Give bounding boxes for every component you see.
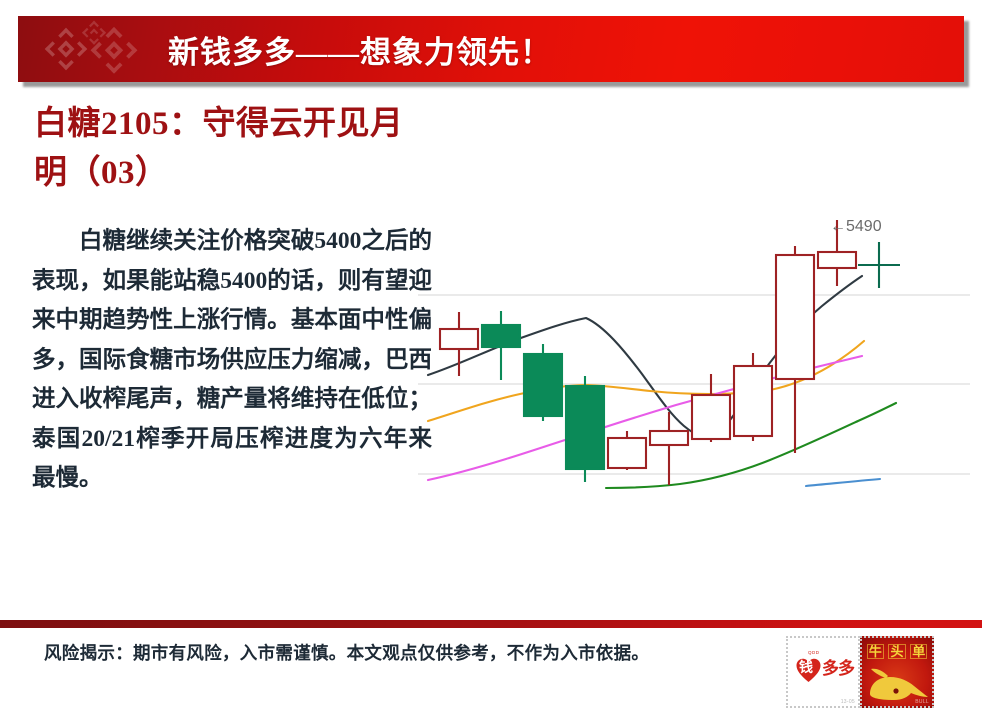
ntd-char-dan: 单 (910, 644, 927, 659)
qdd-micro-text: QDD (808, 650, 820, 655)
qdd-char-qian: 钱 (799, 662, 813, 676)
page-title: 白糖2105：守得云开见月明（03） (34, 100, 434, 198)
candle-3 (524, 344, 562, 421)
candlestick-series (440, 220, 900, 485)
niutoudan-stamp: 牛 头 单 BULL (860, 636, 934, 708)
candle-9 (776, 246, 814, 453)
candle-8 (734, 353, 772, 441)
candle-11 (858, 242, 900, 288)
ma-lines (428, 276, 896, 488)
header-banner: 新钱多多——想象力领先！ (18, 16, 964, 82)
candle-2 (482, 311, 520, 380)
candle-1 (440, 312, 478, 376)
banner-title: 新钱多多——想象力领先！ (168, 16, 552, 82)
candlestick-chart: ←5490 (418, 198, 970, 528)
body-paragraph: 白糖继续关注价格突破5400之后的表现，如果能站稳5400的话，则有望迎来中期趋… (32, 222, 432, 499)
candle-4 (566, 376, 604, 482)
qianduoduo-stamp: QDD 钱 多多 13-05 (786, 636, 860, 708)
risk-disclaimer: 风险揭示：期市有风险，入市需谨慎。本文观点仅供参考，不作为入市依据。 (44, 640, 649, 665)
ntd-title-chars: 牛 头 单 (862, 644, 932, 659)
ntd-char-niu: 牛 (867, 644, 884, 659)
bull-head-icon (866, 664, 930, 704)
qdd-char-duoduo: 多多 (822, 660, 854, 677)
qdd-stamp-code: 13-05 (841, 699, 855, 705)
footer-divider (0, 620, 982, 628)
ma-blue-line (806, 479, 880, 486)
ntd-stamp-code: BULL (915, 699, 929, 705)
banner-bar: 新钱多多——想象力领先！ (18, 16, 964, 82)
annotation-label: ←5490 (830, 218, 882, 235)
candle-5 (608, 431, 646, 470)
footer-logos: QDD 钱 多多 13-05 牛 头 单 BULL (786, 636, 934, 708)
price-annotation-5490: ←5490 (830, 218, 882, 235)
diamond-lattice-emblem-icon (36, 18, 156, 80)
ntd-char-tou: 头 (888, 644, 905, 659)
chart-canvas: ←5490 (418, 198, 970, 528)
